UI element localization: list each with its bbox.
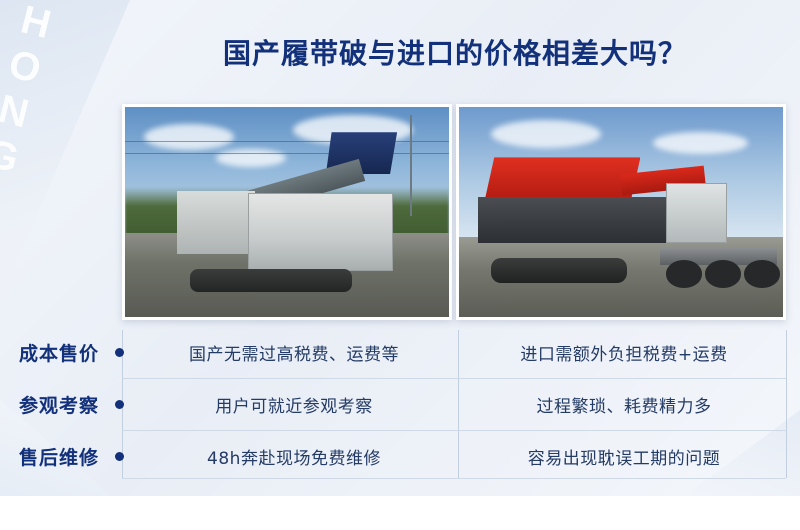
operator-cabin xyxy=(666,183,726,244)
wheel xyxy=(744,260,780,287)
row-label-visit: 参观考察 xyxy=(0,391,110,418)
crawler-track xyxy=(491,258,627,283)
row-separator xyxy=(122,378,786,379)
row-bullet xyxy=(110,348,128,357)
row-bullet xyxy=(110,452,128,461)
photo-imported-crusher xyxy=(459,107,783,317)
cloud-shape xyxy=(491,120,601,148)
power-wire xyxy=(125,141,449,142)
row-cells: 国产无需过高税费、运费等 进口需额外负担税费+运费 xyxy=(128,330,800,374)
cell-imported-service: 容易出现耽误工期的问题 xyxy=(462,434,786,478)
photo-card-group xyxy=(122,104,786,320)
machine-cabinet xyxy=(177,191,255,254)
crawler-track xyxy=(190,269,352,292)
bullet-dot-icon xyxy=(115,400,124,409)
cell-imported-visit: 过程繁琐、耗费精力多 xyxy=(462,382,786,426)
bottom-strip xyxy=(0,496,800,530)
photo-domestic-crusher xyxy=(125,107,449,317)
power-wire xyxy=(125,153,449,154)
table-row: 成本售价 国产无需过高税费、运费等 进口需额外负担税费+运费 xyxy=(0,330,800,374)
utility-pole xyxy=(410,115,412,216)
table-row: 参观考察 用户可就近参观考察 过程繁琐、耗费精力多 xyxy=(0,382,800,426)
cell-domestic-cost: 国产无需过高税费、运费等 xyxy=(132,330,456,374)
page-title: 国产履带破与进口的价格相差大吗？ xyxy=(130,30,780,78)
cell-imported-cost: 进口需额外负担税费+运费 xyxy=(462,330,786,374)
row-label-service: 售后维修 xyxy=(0,443,110,470)
cloud-shape xyxy=(216,149,286,167)
machine-body xyxy=(248,193,393,271)
wheel xyxy=(705,260,741,287)
row-cells: 用户可就近参观考察 过程繁琐、耗费精力多 xyxy=(128,382,800,426)
poster-root: HONG XING 国产履带破与进口的价格相差大吗？ xyxy=(0,0,800,530)
photo-card-imported xyxy=(456,104,786,320)
row-bullet xyxy=(110,400,128,409)
comparison-table: 成本售价 国产无需过高税费、运费等 进口需额外负担税费+运费 参观考察 用户可就… xyxy=(0,330,800,486)
wheel xyxy=(666,260,702,287)
cloud-shape xyxy=(144,124,234,150)
row-label-cost: 成本售价 xyxy=(0,339,110,366)
row-separator xyxy=(122,478,786,479)
decorative-wedge-top-left xyxy=(0,0,130,300)
row-separator xyxy=(122,430,786,431)
red-hopper xyxy=(485,157,641,199)
machine-body xyxy=(478,197,672,243)
cell-domestic-visit: 用户可就近参观考察 xyxy=(132,382,456,426)
cell-domestic-service: 48h奔赴现场免费维修 xyxy=(132,434,456,478)
table-row: 售后维修 48h奔赴现场免费维修 容易出现耽误工期的问题 xyxy=(0,434,800,478)
bullet-dot-icon xyxy=(115,348,124,357)
photo-card-domestic xyxy=(122,104,452,320)
row-cells: 48h奔赴现场免费维修 容易出现耽误工期的问题 xyxy=(128,434,800,478)
bullet-dot-icon xyxy=(115,452,124,461)
